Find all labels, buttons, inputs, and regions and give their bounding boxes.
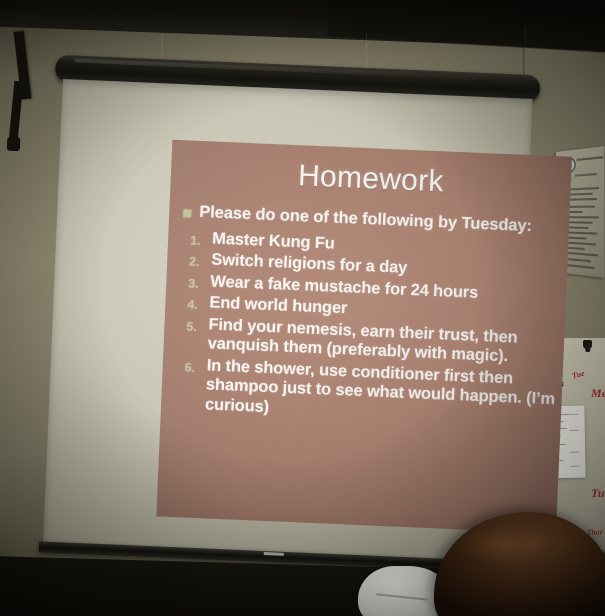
projected-slide: Homework Please do one of the following … (156, 140, 572, 534)
list-item-number: 1. (190, 229, 213, 249)
screen-mount-bracket-left-post (9, 81, 24, 144)
whiteboard-note: Tu (591, 486, 605, 501)
bullet-square-icon (183, 209, 191, 217)
list-item-number: 5. (186, 314, 209, 334)
poster-heading-line (577, 156, 604, 161)
slide-title: Homework (170, 154, 571, 205)
list-item-number: 6. (184, 355, 207, 375)
list-item-text: In the shower, use conditioner first the… (205, 356, 557, 429)
list-item-number: 4. (187, 293, 210, 313)
whiteboard-note: Me (591, 386, 605, 401)
slide-numbered-list: 1. Master Kung Fu 2. Switch religions fo… (183, 229, 563, 432)
poster-subheading-line (575, 173, 597, 177)
list-item-number: 3. (188, 271, 211, 291)
screen-mount-bracket-left-foot (7, 137, 21, 152)
classroom-photo-scene: 40 kOx Tue Me Tu Due Thur (0, 0, 605, 616)
whiteboard-note: Tue (571, 369, 585, 381)
projector-screen-assembly: Homework Please do one of the following … (0, 52, 553, 585)
projector-screen-fabric: Homework Please do one of the following … (43, 79, 532, 565)
magnet-clip (583, 340, 592, 349)
list-item-number: 2. (189, 250, 212, 270)
